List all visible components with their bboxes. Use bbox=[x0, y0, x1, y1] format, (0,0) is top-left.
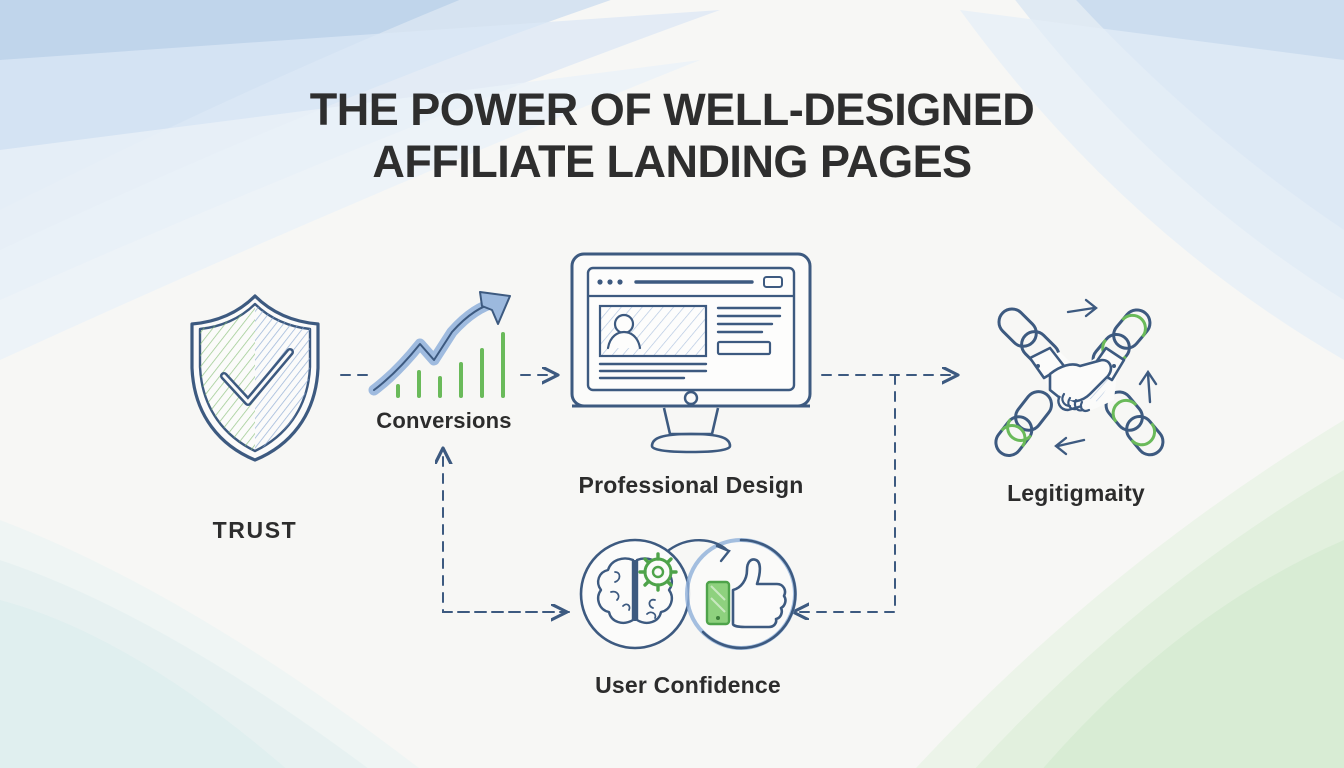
node-conversions[interactable]: Conversions bbox=[360, 286, 528, 434]
node-user-confidence[interactable]: User Confidence bbox=[548, 528, 828, 699]
shield-check-icon bbox=[180, 290, 330, 465]
node-legitimacy[interactable]: Legitigmaity bbox=[978, 290, 1174, 507]
chain-link-bottom-left bbox=[991, 386, 1057, 460]
node-conversions-label: Conversions bbox=[376, 408, 511, 434]
node-professional-design[interactable]: Professional Design bbox=[552, 248, 830, 499]
node-legitimacy-label: Legitigmaity bbox=[1007, 480, 1145, 507]
node-trust-label: TRUST bbox=[213, 517, 298, 544]
node-trust[interactable]: TRUST bbox=[152, 290, 358, 544]
node-design-label: Professional Design bbox=[579, 472, 804, 499]
infographic-canvas: THE POWER OF WELL-DESIGNED AFFILIATE LAN… bbox=[0, 0, 1344, 768]
growth-chart-arrow-icon bbox=[364, 286, 524, 404]
gear-icon bbox=[640, 554, 676, 590]
node-confidence-label: User Confidence bbox=[595, 672, 781, 699]
handshake-chain-links-icon bbox=[986, 290, 1166, 462]
handshake bbox=[1030, 348, 1124, 411]
brain-gear-thumbs-up-icon bbox=[563, 528, 813, 660]
desktop-monitor-webpage-icon bbox=[566, 248, 816, 460]
